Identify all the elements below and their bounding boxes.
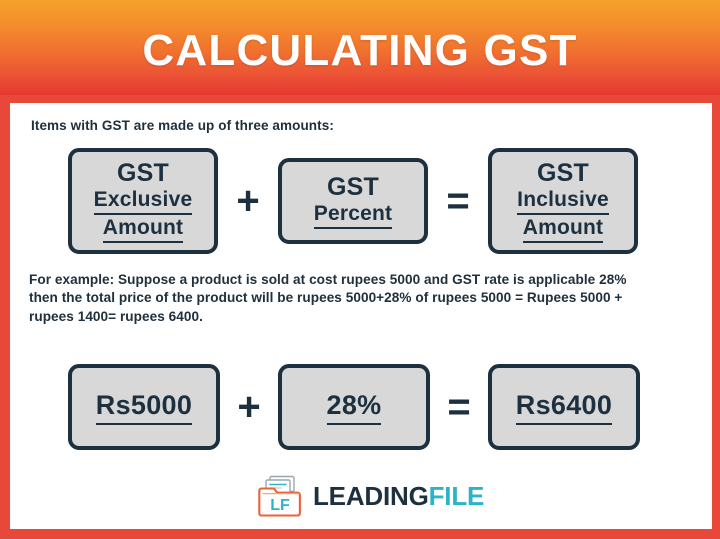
value-box-total-amount: Rs6400: [488, 364, 640, 450]
formula-box-gst-percent: GST Percent: [278, 158, 428, 244]
brand-logo: LF LEADINGFILE: [258, 475, 484, 517]
equals-operator-icon: =: [428, 181, 488, 221]
value-box1-text: Rs5000: [96, 390, 192, 425]
value-box3-text: Rs6400: [516, 390, 612, 425]
header-banner: CALCULATING GST: [0, 0, 720, 95]
folder-file-icon: LF: [258, 475, 304, 517]
intro-text: Items with GST are made up of three amou…: [31, 118, 334, 133]
infographic-poster: CALCULATING GST Items with GST are made …: [0, 0, 720, 539]
value-box-gst-rate: 28%: [278, 364, 430, 450]
equals-operator-icon-2: =: [430, 387, 488, 427]
example-text: For example: Suppose a product is sold a…: [29, 271, 654, 326]
plus-operator-icon-2: +: [220, 387, 278, 427]
formula-box3-line2: Inclusive: [517, 188, 609, 215]
value-row: Rs5000 + 28% = Rs6400: [68, 358, 640, 456]
value-box-base-amount: Rs5000: [68, 364, 220, 450]
formula-box-gst-inclusive-amount: GST Inclusive Amount: [488, 148, 638, 254]
formula-box3-line1: GST: [537, 160, 589, 187]
formula-box1-line3: Amount: [103, 216, 184, 243]
formula-box3-line3: Amount: [523, 216, 604, 243]
value-box2-text: 28%: [327, 390, 382, 425]
logo-text-secondary: FILE: [429, 481, 485, 511]
formula-box1-line1: GST: [117, 160, 169, 187]
formula-row: GST Exclusive Amount + GST Percent = GST…: [68, 148, 638, 254]
formula-box-gst-exclusive-amount: GST Exclusive Amount: [68, 148, 218, 254]
formula-box2-line2: Percent: [314, 202, 392, 229]
formula-box2-line1: GST: [327, 174, 379, 201]
logo-wordmark: LEADINGFILE: [313, 483, 484, 509]
logo-text-primary: LEADING: [313, 481, 429, 511]
formula-box1-line2: Exclusive: [94, 188, 193, 215]
logo-monogram: LF: [270, 497, 290, 514]
plus-operator-icon: +: [218, 181, 278, 221]
page-title: CALCULATING GST: [142, 29, 577, 73]
